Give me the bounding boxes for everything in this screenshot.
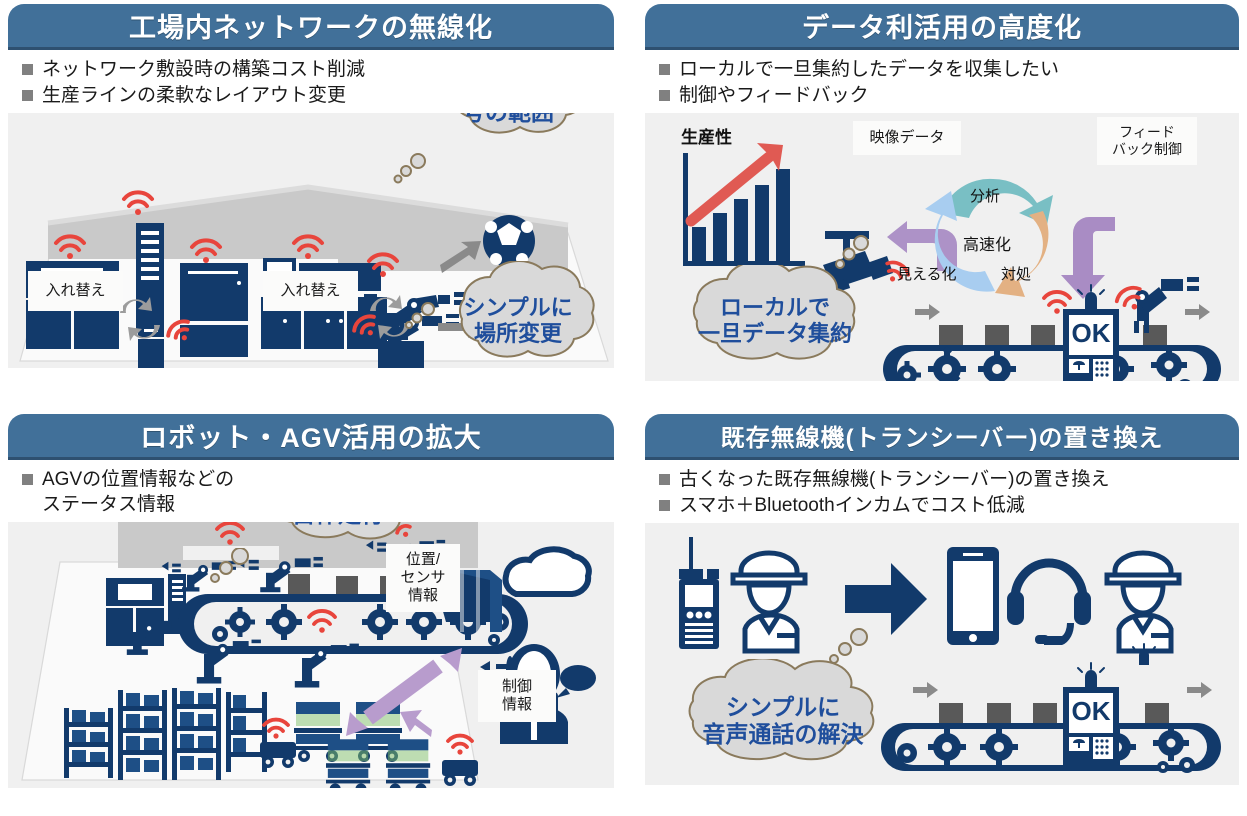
bullet-item: ネットワーク敷設時の構築コスト削減: [22, 57, 610, 82]
machine-icon: [180, 263, 248, 357]
panel-title-2: データ利活用の高度化: [645, 4, 1239, 50]
speech-bubble-local-aggregation: ローカルで 一旦データ集約: [657, 265, 893, 377]
bubble-tail-dots: [825, 627, 869, 671]
bubble-tail-dots: [404, 301, 438, 331]
bullet-marker-icon: [659, 500, 670, 511]
label-swap-left: 入れ替え: [28, 271, 123, 311]
speech-bubble-voice-call: シンプルに 音声通話の解決: [649, 659, 917, 781]
bubble-tail-dots: [206, 548, 250, 588]
bullet-item: スマホ＋Bluetoothインカムでコスト低減: [659, 493, 1235, 518]
smartphone-icon: [947, 547, 999, 645]
bullet-marker-icon: [22, 90, 33, 101]
server-cabinet-icon: [136, 223, 164, 329]
bubble-text: ライトな信 号の範囲: [408, 113, 608, 157]
cycle-label-center: 高速化: [963, 231, 1011, 255]
product-box: [939, 703, 1169, 723]
bullet-item: 古くなった既存無線機(トランシーバー)の置き換え: [659, 467, 1235, 492]
bullet-item: 制御やフィードバック: [659, 83, 1235, 108]
bullet-item: ローカルで一旦集約したデータを収集したい: [659, 57, 1235, 82]
flow-arrow-right: [1061, 217, 1115, 299]
device-display-ok: OK: [1069, 313, 1113, 353]
panel-data-utilization: データ利活用の高度化 ローカルで一旦集約したデータを収集したい 制御やフィードバ…: [645, 4, 1239, 398]
bullet-item: 生産ラインの柔軟なレイアウト変更: [22, 83, 610, 108]
panel-transceiver-replacement: 既存無線機(トランシーバー)の置き換え 古くなった既存無線機(トランシーバー)の…: [645, 414, 1239, 808]
panel-wireless-factory-network: 工場内ネットワークの無線化 ネットワーク敷設時の構築コスト削減 生産ラインの柔軟…: [8, 4, 614, 398]
speech-bubble-signal-range: ライトな信 号の範囲: [408, 113, 608, 157]
machine-unit-icon: [138, 325, 164, 368]
bullet-item: AGVの位置情報などの ステータス情報: [22, 467, 610, 517]
bubble-text: シンプルに 場所変更: [420, 261, 614, 368]
bullet-marker-icon: [22, 474, 33, 485]
transceiver-icon: [679, 537, 719, 649]
cycle-label-action: 対処: [1001, 263, 1031, 284]
panel-title-1: 工場内ネットワークの無線化: [8, 4, 614, 50]
headset-icon: [1007, 563, 1091, 645]
bubble-tail-dots: [390, 153, 430, 187]
label-control-info: 制御 情報: [478, 670, 556, 722]
soccer-ball-icon: [483, 215, 535, 267]
bubble-text: ローカルで 一旦データ集約: [657, 265, 893, 377]
robot-arm-icon: [1134, 277, 1199, 333]
transform-arrow-icon: [845, 563, 927, 635]
panel-title-4: 既存無線機(トランシーバー)の置き換え: [645, 414, 1239, 460]
bubble-tail-dots: [831, 235, 871, 273]
bullet-marker-icon: [659, 90, 670, 101]
label-video-data: 映像データ: [853, 121, 961, 155]
illustration-factory-floor: ライトな信 号の範囲 シンプルに 場所変更 入れ替え 入れ替え: [8, 113, 614, 368]
cycle-label-analysis: 分析: [970, 185, 1000, 206]
cloud-icon: [506, 549, 589, 594]
bullet-marker-icon: [22, 64, 33, 75]
panel-bullets-2: ローカルで一旦集約したデータを収集したい 制御やフィードバック: [645, 50, 1239, 113]
product-box: [939, 325, 1167, 345]
illustration-transceiver-to-smartphone: OK シンプルに 音声通話の解決: [645, 523, 1239, 785]
productivity-bar-chart: [683, 143, 805, 266]
direction-arrow-icon: [913, 682, 1212, 698]
panel-robot-agv-expansion: ロボット・AGV活用の拡大 AGVの位置情報などの ステータス情報: [8, 414, 614, 808]
speech-bubble-simple-relocation: シンプルに 場所変更: [420, 261, 614, 368]
device-display-ok: OK: [1069, 691, 1113, 731]
bubble-text: シンプルに 音声通話の解決: [649, 659, 917, 781]
cycle-label-visualize: 見える化: [897, 263, 957, 284]
chart-title: 生産性: [681, 123, 732, 148]
panel-title-3: ロボット・AGV活用の拡大: [8, 414, 614, 460]
bullet-marker-icon: [659, 64, 670, 75]
infographic-sheet: 工場内ネットワークの無線化 ネットワーク敷設時の構築コスト削減 生産ラインの柔軟…: [0, 0, 1247, 816]
illustration-agv-warehouse: ある程度は 自律走行 位置/ センサ 情報 制御 情報: [8, 522, 614, 788]
bullet-marker-icon: [659, 474, 670, 485]
illustration-data-flow: 生産性 分析 高速化 対処 見える化 映像データ フィード バック制御 OK ロ…: [645, 113, 1239, 381]
panel-bullets-1: ネットワーク敷設時の構築コスト削減 生産ラインの柔軟なレイアウト変更: [8, 50, 614, 113]
label-position-sensor-info: 位置/ センサ 情報: [386, 544, 460, 612]
worker-avatar-icon: [733, 553, 805, 651]
agv-scene-svg: [8, 522, 614, 788]
panel-bullets-4: 古くなった既存無線機(トランシーバー)の置き換え スマホ＋Bluetoothイン…: [645, 460, 1239, 523]
direction-arrow-icon: [915, 304, 1210, 320]
label-feedback-control: フィード バック制御: [1097, 117, 1197, 165]
label-swap-right: 入れ替え: [263, 271, 358, 311]
panel-bullets-3: AGVの位置情報などの ステータス情報: [8, 460, 614, 522]
worker-avatar-icon: [1107, 553, 1179, 651]
